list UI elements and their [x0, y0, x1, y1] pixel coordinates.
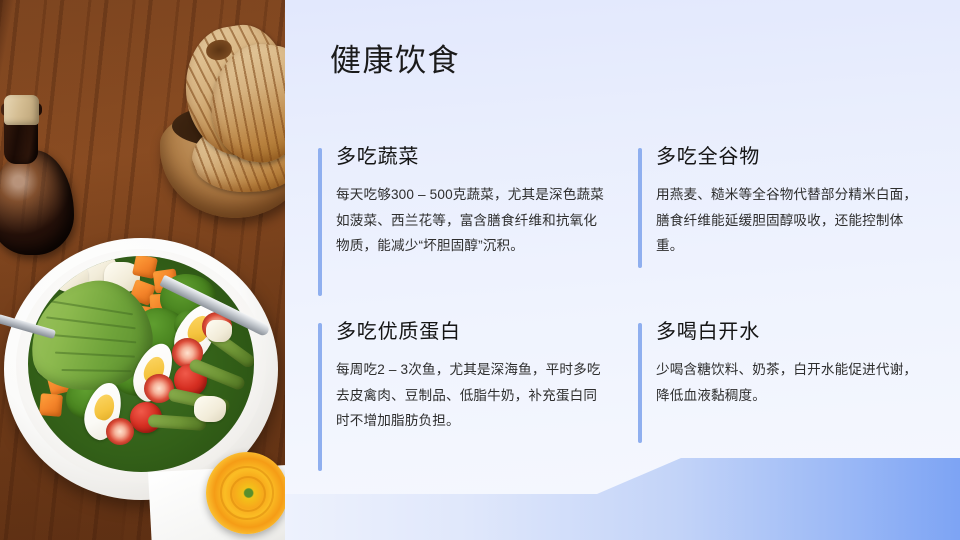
tip-card-vegetables: 多吃蔬菜 每天吃够300 – 500克蔬菜，尤其是深色蔬菜如菠菜、西兰花等，富含… — [318, 145, 618, 293]
ranunculus-flower-icon — [206, 452, 285, 534]
tip-title: 多吃优质蛋白 — [336, 320, 618, 344]
oil-bottle-cork-icon — [4, 95, 39, 125]
tip-body: 每天吃够300 – 500克蔬菜，尤其是深色蔬菜如菠菜、西兰花等，富含膳食纤维和… — [336, 182, 604, 259]
content-panel: 健康饮食 多吃蔬菜 每天吃够300 – 500克蔬菜，尤其是深色蔬菜如菠菜、西兰… — [285, 0, 960, 540]
tip-body: 用燕麦、糙米等全谷物代替部分精米白面，膳食纤维能延缓胆固醇吸收，还能控制体重。 — [656, 182, 924, 259]
page-title: 健康饮食 — [330, 42, 460, 81]
tip-card-protein: 多吃优质蛋白 每周吃2 – 3次鱼，尤其是深海鱼，平时多吃去皮禽肉、豆制品、低脂… — [318, 320, 618, 468]
accent-bar — [318, 323, 322, 471]
tip-title: 多吃蔬菜 — [336, 145, 618, 169]
accent-bar — [638, 148, 642, 268]
tip-title: 多吃全谷物 — [656, 145, 938, 169]
tip-card-wholegrains: 多吃全谷物 用燕麦、糙米等全谷物代替部分精米白面，膳食纤维能延缓胆固醇吸收，还能… — [638, 145, 938, 293]
tip-body: 每周吃2 – 3次鱼，尤其是深海鱼，平时多吃去皮禽肉、豆制品、低脂牛奶，补充蛋白… — [336, 357, 604, 434]
accent-bar — [638, 323, 642, 443]
oil-bottle-body-icon — [0, 150, 74, 255]
slide-root: 健康饮食 多吃蔬菜 每天吃够300 – 500克蔬菜，尤其是深色蔬菜如菠菜、西兰… — [0, 0, 960, 540]
tip-body: 少喝含糖饮料、奶茶，白开水能促进代谢，降低血液黏稠度。 — [656, 357, 924, 408]
salad-contents — [28, 256, 254, 472]
accent-bar — [318, 148, 322, 296]
tip-card-water: 多喝白开水 少喝含糖饮料、奶茶，白开水能促进代谢，降低血液黏稠度。 — [638, 320, 938, 468]
tip-title: 多喝白开水 — [656, 320, 938, 344]
food-photo — [0, 0, 285, 540]
tips-grid: 多吃蔬菜 每天吃够300 – 500克蔬菜，尤其是深色蔬菜如菠菜、西兰花等，富含… — [318, 145, 938, 468]
